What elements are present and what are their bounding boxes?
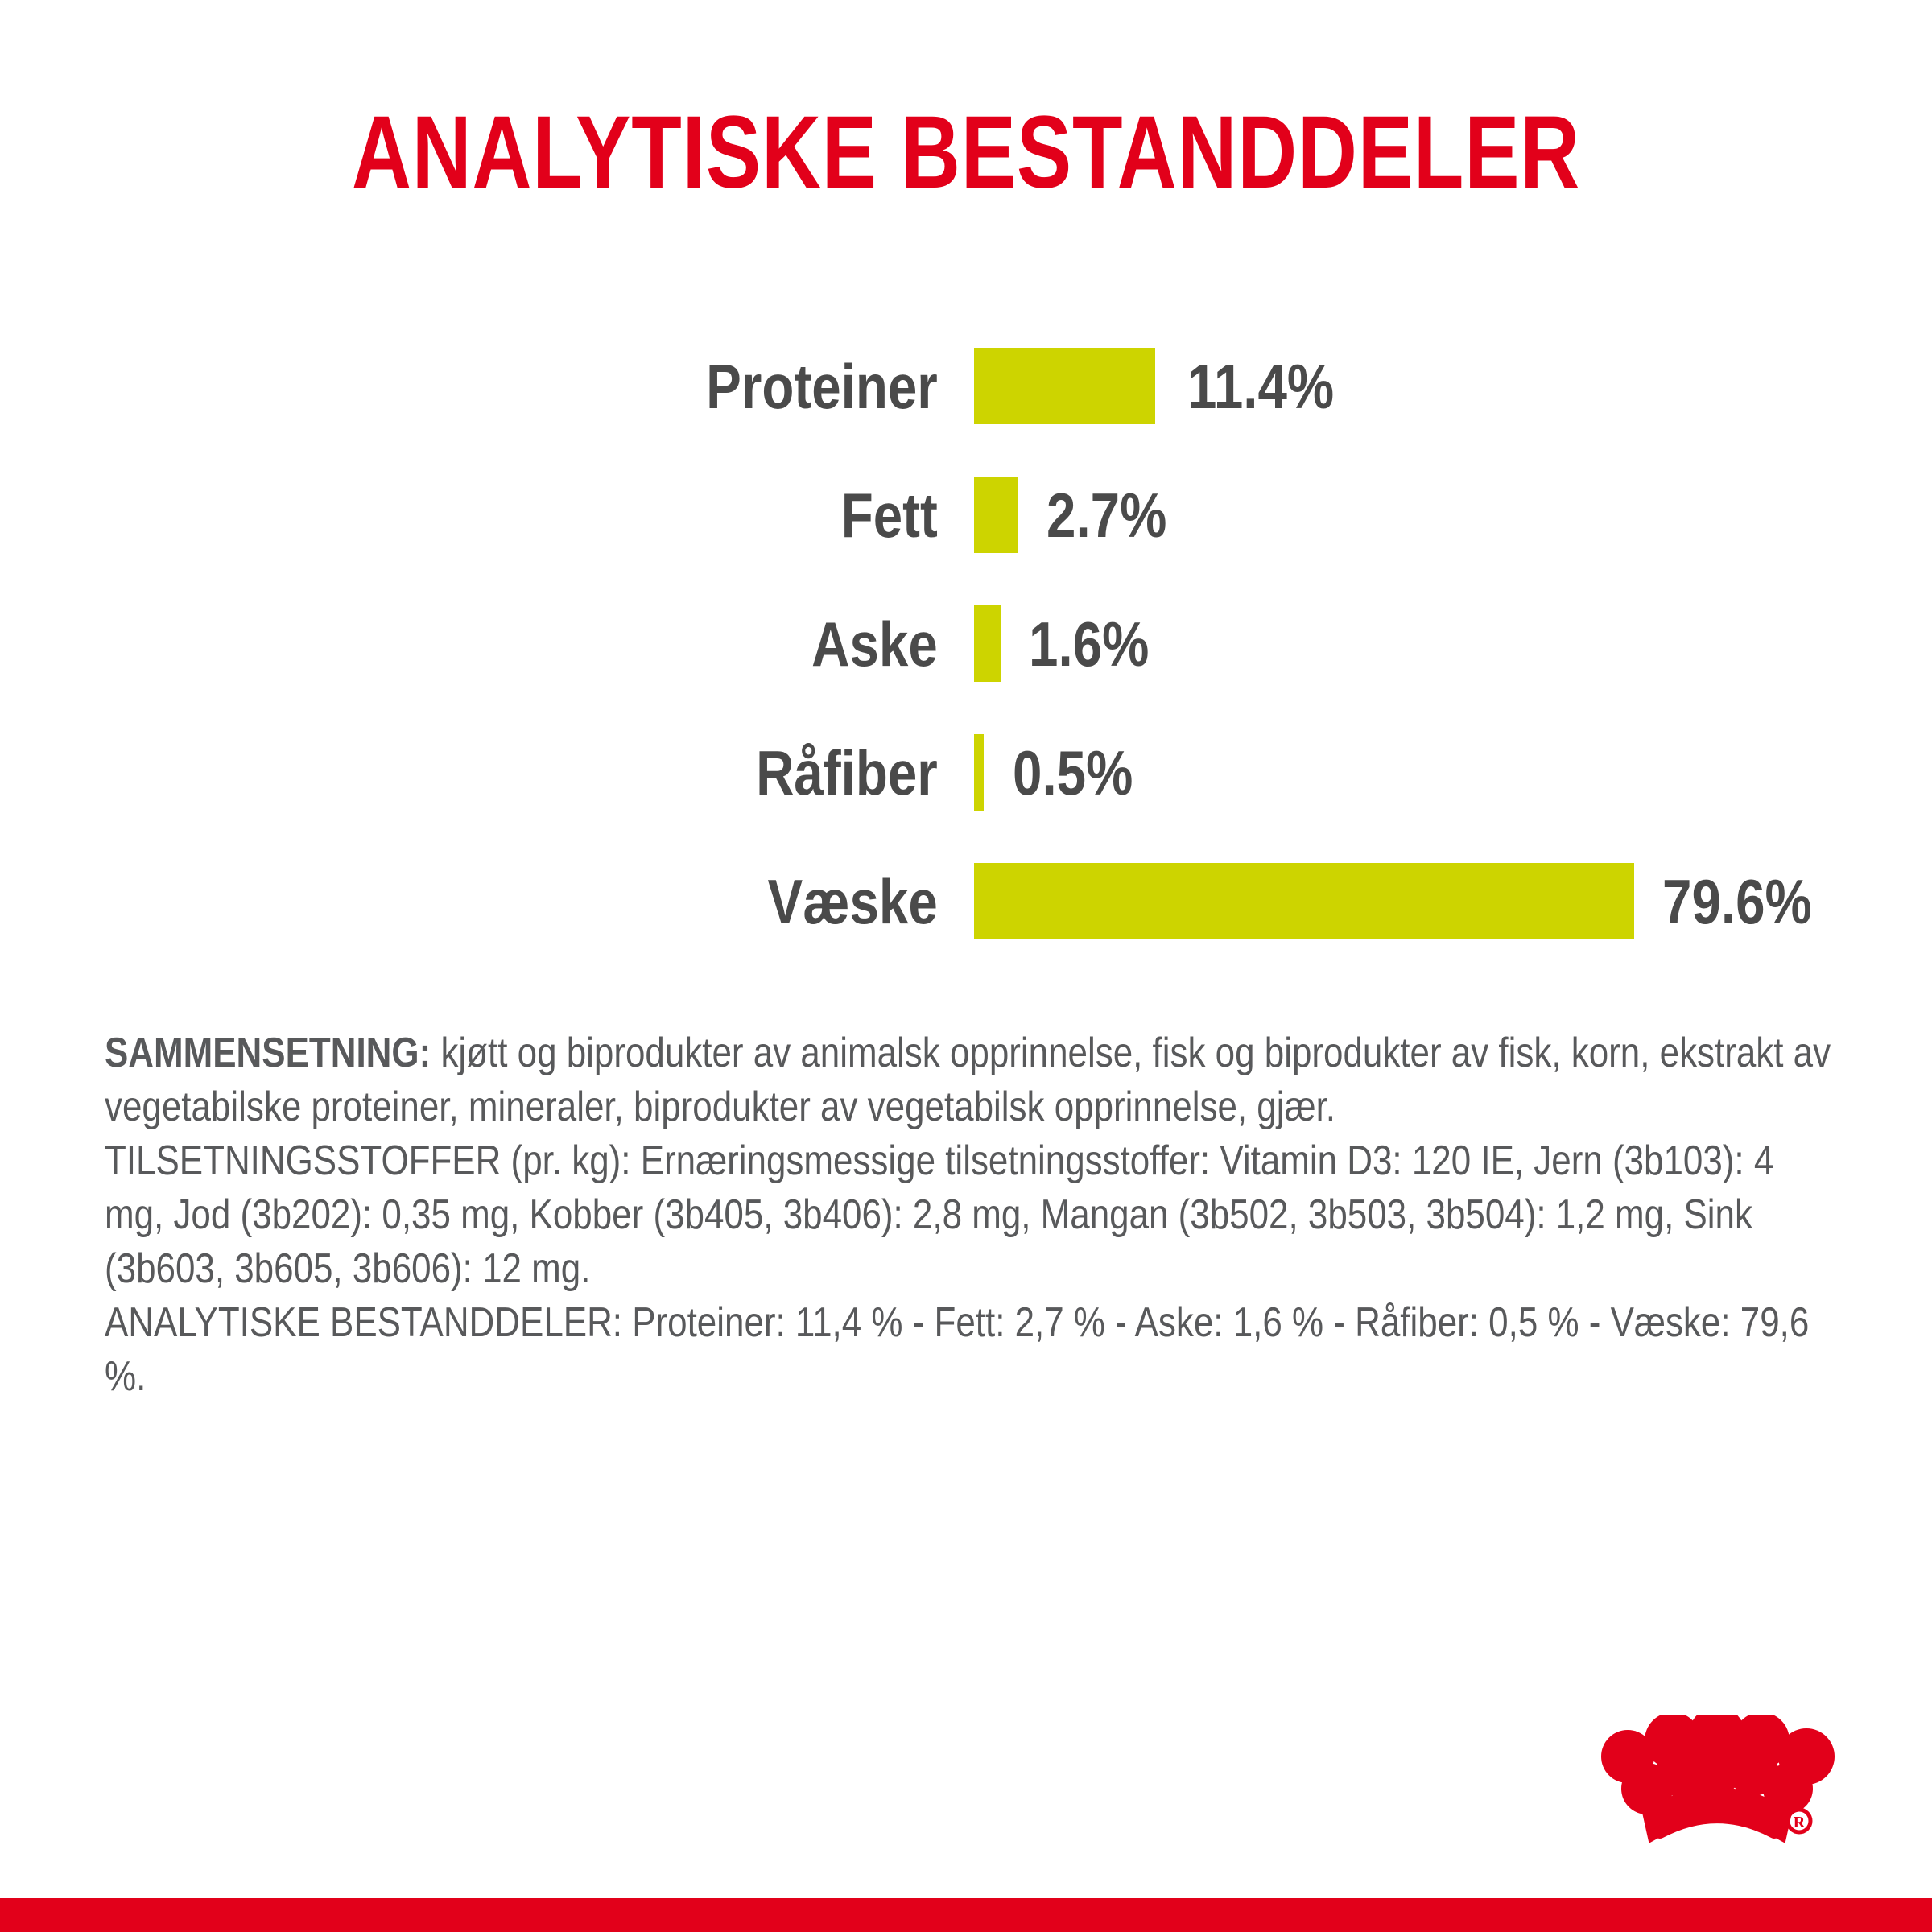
additives-paragraph: TILSETNINGSSTOFFER (pr. kg): Ernæringsme… (105, 1134, 1839, 1296)
bottom-red-band (0, 1898, 1932, 1932)
bar-value-fett: 2.7% (1046, 451, 1166, 580)
royal-canin-crown-logo: R (1578, 1715, 1843, 1876)
composition-heading: SAMMENSETNING: (105, 1030, 431, 1076)
chart-row-aske: Aske 1.6% (0, 580, 1932, 708)
bar-label-vaeske: Væske (349, 837, 958, 966)
page-title: ANALYTISKE BESTANDDELER (193, 97, 1739, 209)
bar-vaeske (974, 863, 1634, 939)
bar-label-proteiner: Proteiner (349, 322, 958, 451)
bar-label-aske: Aske (349, 580, 958, 708)
bar-label-rafiber: Råfiber (349, 708, 958, 837)
chart-row-vaeske: Væske 79.6% (0, 837, 1932, 966)
bar-aske (974, 605, 1001, 682)
bar-value-rafiber: 0.5% (1013, 708, 1133, 837)
analytical-constituents-paragraph: ANALYTISKE BESTANDDELER: Proteiner: 11,4… (105, 1296, 1839, 1404)
bar-fett (974, 477, 1018, 553)
bar-value-proteiner: 11.4% (1187, 322, 1334, 451)
svg-text:R: R (1794, 1814, 1806, 1831)
bar-label-fett: Fett (349, 451, 958, 580)
analytical-constituents-chart: Proteiner 11.4% Fett 2.7% Aske 1.6% Råfi… (0, 322, 1932, 966)
composition-paragraph-1: SAMMENSETNING: kjøtt og biprodukter av a… (105, 1026, 1839, 1134)
registered-trademark-icon: R (1788, 1810, 1810, 1832)
composition-text-block: SAMMENSETNING: kjøtt og biprodukter av a… (105, 1026, 1839, 1404)
chart-row-rafiber: Råfiber 0.5% (0, 708, 1932, 837)
bar-proteiner (974, 348, 1155, 424)
bar-rafiber (974, 734, 984, 811)
bar-value-aske: 1.6% (1029, 580, 1149, 708)
chart-row-fett: Fett 2.7% (0, 451, 1932, 580)
crown-icon: R (1578, 1715, 1843, 1876)
chart-row-proteiner: Proteiner 11.4% (0, 322, 1932, 451)
bar-value-vaeske: 79.6% (1662, 837, 1812, 966)
